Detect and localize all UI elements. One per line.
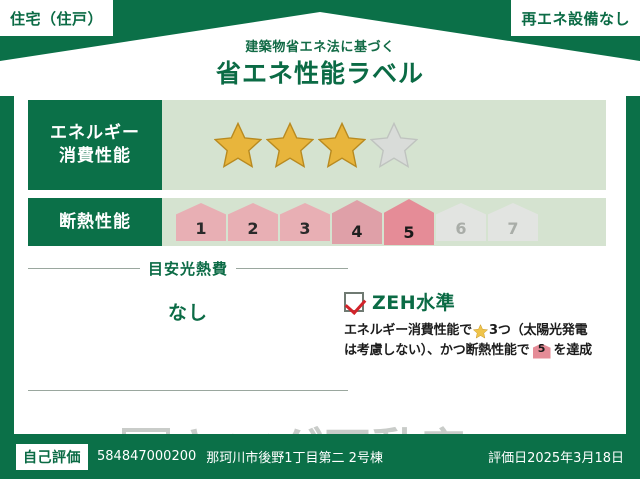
insulation-grade-7: 7 [488, 203, 538, 241]
insulation-grade-1: 1 [176, 203, 226, 241]
insulation-grade-6: 6 [436, 203, 486, 241]
insulation-grade-2: 2 [228, 203, 278, 241]
badge-building-type: 住宅（住戸） [0, 0, 113, 36]
zeh-line2-text-b: を達成 [554, 341, 592, 361]
energy-label-line2: 消費性能 [59, 145, 131, 168]
property-address: 那珂川市後野1丁目第二 2号棟 [206, 447, 488, 466]
footer-bar: 自己評価 584847000200 那珂川市後野1丁目第二 2号棟 評価日202… [0, 434, 640, 479]
frame-left-edge [0, 96, 14, 434]
star-icon [473, 324, 488, 339]
star-rating [162, 121, 418, 169]
badge-renewable-equipment: 再エネ設備なし [511, 0, 640, 36]
zeh-section: ZEH水準 エネルギー消費性能で 3つ（太陽光発電 は考慮しない）、かつ断熱性能… [344, 288, 612, 361]
label-content-panel: エネルギー 消費性能 断熱性能 1234567 目安光熱費 なし [14, 98, 626, 428]
insulation-label-text: 断熱性能 [59, 211, 131, 234]
insulation-performance-row: 断熱性能 1234567 [28, 198, 606, 246]
cost-rule-left [28, 268, 140, 269]
insulation-performance-value: 1234567 [162, 198, 606, 246]
evaluation-date: 評価日2025年3月18日 [488, 447, 624, 466]
zeh-description: エネルギー消費性能で 3つ（太陽光発電 は考慮しない）、かつ断熱性能で 5 を達… [344, 321, 612, 361]
energy-cost-value: なし [28, 298, 348, 325]
zeh-heading: ZEH水準 [344, 288, 612, 315]
evaluation-type-badge: 自己評価 [16, 444, 88, 470]
zeh-title: ZEH水準 [372, 288, 455, 315]
energy-performance-value [162, 100, 606, 190]
zeh-description-line2: は考慮しない）、かつ断熱性能で 5 を達成 [344, 341, 612, 361]
insulation-grade-3: 3 [280, 203, 330, 241]
zeh-line2-text-a: は考慮しない）、かつ断熱性能で [344, 341, 530, 361]
star-filled-icon [214, 121, 262, 169]
frame-right-edge [626, 96, 640, 434]
page-title: 建築物省エネ法に基づく 省エネ性能ラベル [0, 40, 640, 90]
zeh-checkbox-icon [344, 292, 364, 312]
insulation-grade-5: 5 [384, 199, 434, 245]
grade-badge-icon: 5 [533, 344, 551, 359]
insulation-grade-4: 4 [332, 200, 382, 244]
energy-performance-label: エネルギー 消費性能 [28, 100, 162, 190]
insulation-performance-label: 断熱性能 [28, 198, 162, 246]
energy-cost-heading: 目安光熱費 [28, 258, 348, 279]
zeh-line1-text-a: エネルギー消費性能で [344, 321, 472, 341]
title-subtitle: 建築物省エネ法に基づく [0, 40, 640, 56]
energy-label-line1: エネルギー [50, 122, 140, 145]
label-id: 584847000200 [97, 449, 196, 464]
zeh-description-line1: エネルギー消費性能で 3つ（太陽光発電 [344, 321, 612, 341]
insulation-grade-scale: 1234567 [162, 199, 538, 245]
energy-cost-title: 目安光熱費 [148, 258, 228, 279]
star-filled-icon [266, 121, 314, 169]
title-main: 省エネ性能ラベル [0, 58, 640, 90]
energy-performance-label: 住宅（住戸） 再エネ設備なし 建築物省エネ法に基づく 省エネ性能ラベル エネルギ… [0, 0, 640, 479]
energy-performance-row: エネルギー 消費性能 [28, 100, 606, 190]
zeh-line1-text-b: 3つ（太陽光発電 [489, 321, 587, 341]
star-empty-icon [370, 121, 418, 169]
cost-section-underline [28, 390, 348, 391]
star-filled-icon [318, 121, 366, 169]
cost-rule-right [236, 268, 348, 269]
